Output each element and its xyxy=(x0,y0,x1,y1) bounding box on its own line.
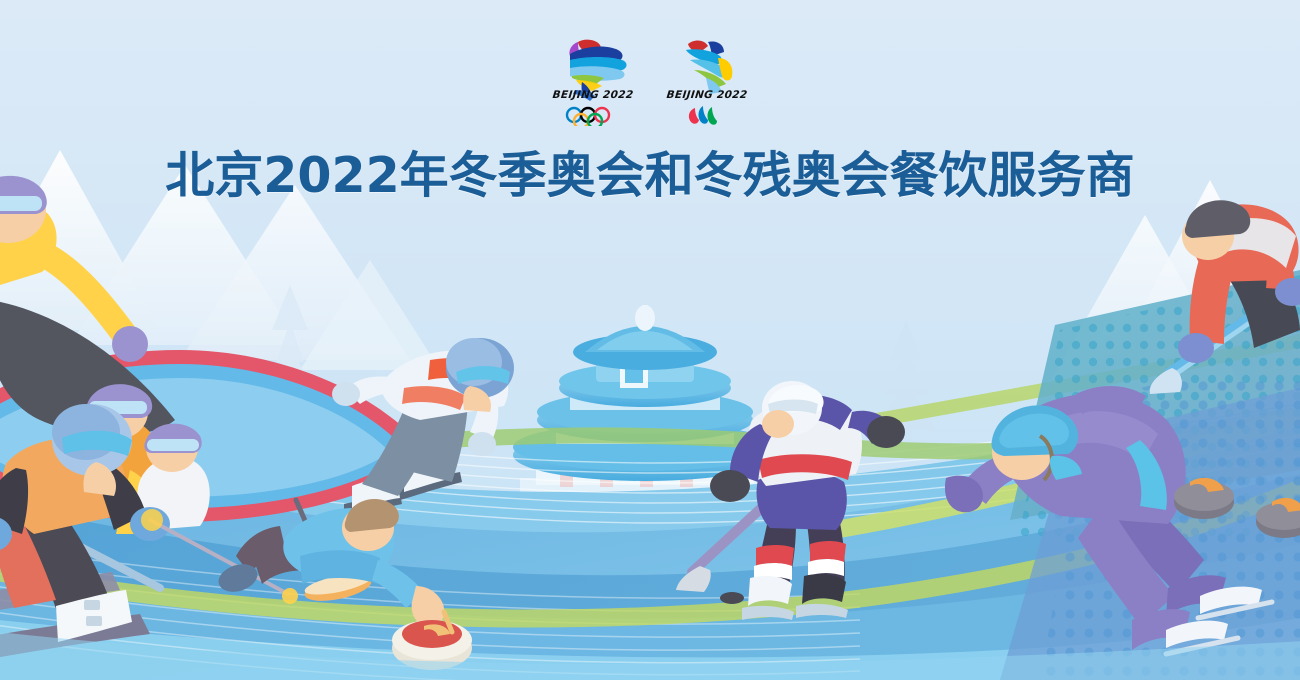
page-title: 北京2022年冬季奥会和冬残奥会餐饮服务商 xyxy=(0,145,1300,207)
olympic-emblem: BEIJING 2022 xyxy=(548,34,638,134)
emblem-row: BEIJING 2022 BEIJING 2022 xyxy=(0,34,1300,134)
paralympic-wordmark: BEIJING 2022 xyxy=(661,89,752,101)
paralympic-emblem: BEIJING 2022 xyxy=(662,34,752,134)
beijing-2022-banner: BEIJING 2022 BEIJING 2022 北京2022年冬季奥会和冬残… xyxy=(0,0,1300,680)
olympic-wordmark: BEIJING 2022 xyxy=(547,89,638,101)
